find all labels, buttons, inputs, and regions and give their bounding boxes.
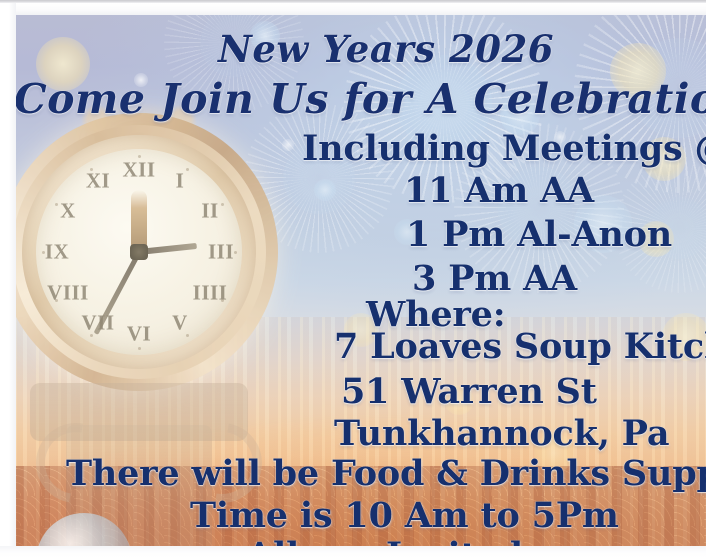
line-meeting-1pm-alanon: 1 Pm Al-Anon — [406, 214, 672, 255]
frame-bottom-margin — [0, 546, 706, 558]
line-food-and-drinks: There will be Food & Drinks Supplied — [66, 453, 706, 494]
line-meeting-3pm-aa: 3 Pm AA — [412, 258, 577, 299]
poster-image: XII I II III IIII V VI VII VIII IX X XI — [0, 0, 706, 558]
artwork-canvas: XII I II III IIII V VI VII VIII IX X XI — [14, 13, 706, 546]
frame-top-margin — [0, 3, 706, 15]
headline-new-years: New Years 2026 — [218, 27, 554, 71]
line-city-state: Tunkhannock, Pa — [334, 413, 669, 454]
line-event-time: Time is 10 Am to 5Pm — [190, 495, 619, 536]
line-street-address: 51 Warren St — [341, 371, 597, 412]
line-meeting-11am-aa: 11 Am AA — [404, 170, 594, 211]
headline-come-join-us: Come Join Us for A Celebration — [14, 75, 706, 123]
line-venue-name: 7 Loaves Soup Kitchen — [334, 326, 706, 367]
line-including-meetings: Including Meetings @ — [302, 128, 706, 169]
line-all-are-invited: All are Invited — [246, 535, 523, 546]
poster-copy: New Years 2026 Come Join Us for A Celebr… — [14, 13, 706, 546]
frame-left-margin — [0, 3, 16, 558]
